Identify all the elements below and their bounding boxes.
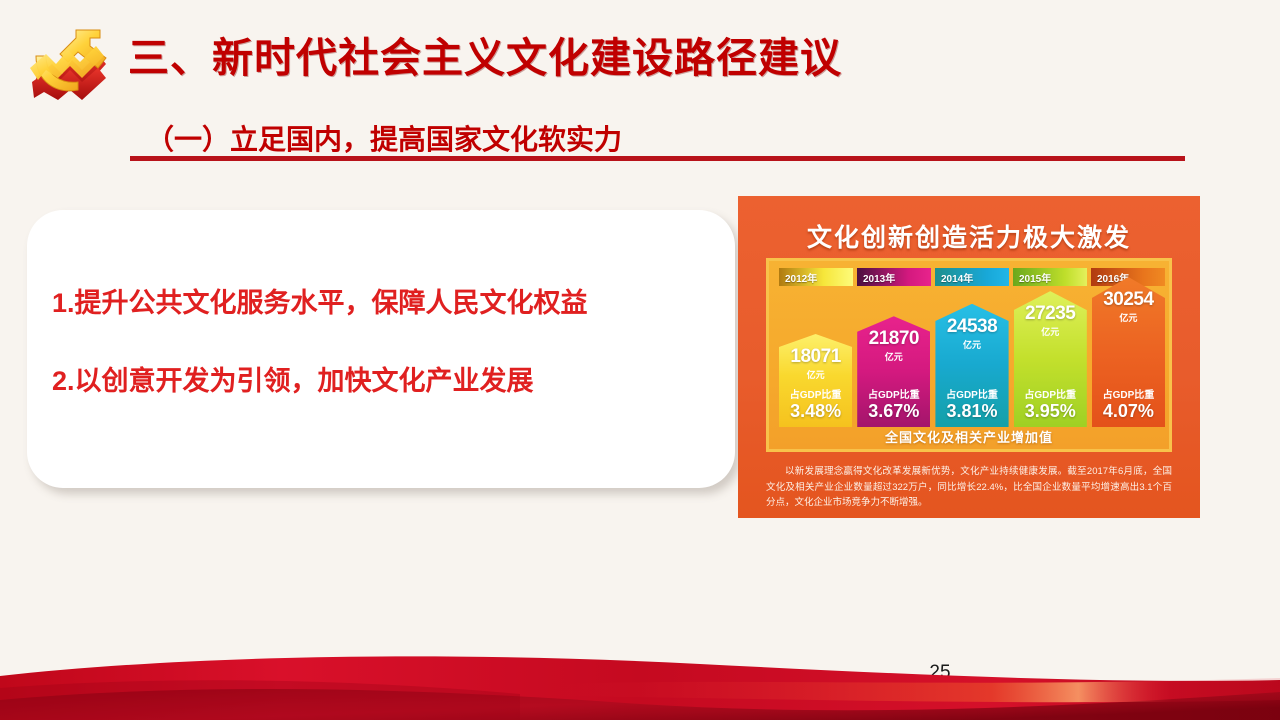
bar-2013: 21870 亿元 占GDP比重 3.67% bbox=[857, 316, 930, 427]
bar-share-label: 占GDP比重 bbox=[868, 386, 920, 401]
bar-value: 24538 bbox=[947, 317, 997, 336]
bar-value: 30254 bbox=[1103, 290, 1153, 309]
chart-bars: 18071 亿元 占GDP比重 3.48% 21870 亿元 占GDP比重 3.… bbox=[779, 277, 1165, 427]
bar-unit: 亿元 bbox=[963, 338, 981, 351]
title-divider bbox=[130, 156, 1185, 161]
bullet-list: 1.提升公共文化服务水平，保障人民文化权益 2.以创意开发为引领，加快文化产业发… bbox=[52, 287, 712, 398]
bar-2012: 18071 亿元 占GDP比重 3.48% bbox=[779, 334, 852, 427]
bar-share-label: 占GDP比重 bbox=[790, 386, 842, 401]
page-subtitle: （一）立足国内，提高国家文化软实力 bbox=[146, 118, 622, 158]
bar-share-value: 3.95% bbox=[1025, 402, 1076, 420]
infographic-caption: 以新发展理念赢得文化改革发展新优势，文化产业持续健康发展。截至2017年6月底，… bbox=[766, 464, 1172, 511]
bar-share-value: 3.81% bbox=[946, 402, 997, 420]
cpc-emblem-icon bbox=[16, 16, 122, 108]
bar-chart: 2012年 2013年 2014年 2015年 2016年 18071 亿元 占… bbox=[766, 258, 1172, 452]
bar-share-value: 3.67% bbox=[868, 402, 919, 420]
bar-value: 27235 bbox=[1025, 304, 1075, 323]
page-title: 三、新时代社会主义文化建设路径建议 bbox=[128, 24, 842, 84]
bar-share-label: 占GDP比重 bbox=[1024, 386, 1076, 401]
infographic-title: 文化创新创造活力极大激发 bbox=[738, 218, 1200, 254]
bar-2015: 27235 亿元 占GDP比重 3.95% bbox=[1014, 291, 1087, 427]
bar-value: 18071 bbox=[790, 347, 840, 366]
bar-2014: 24538 亿元 占GDP比重 3.81% bbox=[935, 304, 1008, 427]
infographic-panel: 文化创新创造活力极大激发 2012年 2013年 2014年 2015年 201… bbox=[738, 196, 1200, 518]
bar-unit: 亿元 bbox=[1041, 325, 1059, 338]
bar-share-label: 占GDP比重 bbox=[1103, 386, 1155, 401]
list-item: 2.以创意开发为引领，加快文化产业发展 bbox=[52, 365, 712, 397]
bar-share-label: 占GDP比重 bbox=[946, 386, 998, 401]
bar-2016: 30254 亿元 占GDP比重 4.07% bbox=[1092, 277, 1165, 427]
bar-share-value: 4.07% bbox=[1103, 402, 1154, 420]
bar-value: 21870 bbox=[869, 329, 919, 348]
bar-unit: 亿元 bbox=[1119, 311, 1137, 324]
slide: 三、新时代社会主义文化建设路径建议 （一）立足国内，提高国家文化软实力 1.提升… bbox=[0, 0, 1280, 720]
bar-unit: 亿元 bbox=[807, 368, 825, 381]
bar-share-value: 3.48% bbox=[790, 402, 841, 420]
chart-footer-label: 全国文化及相关产业增加值 bbox=[769, 427, 1169, 446]
list-item: 1.提升公共文化服务水平，保障人民文化权益 bbox=[52, 287, 712, 319]
bar-unit: 亿元 bbox=[885, 350, 903, 363]
red-ribbon-decoration bbox=[0, 648, 1280, 720]
